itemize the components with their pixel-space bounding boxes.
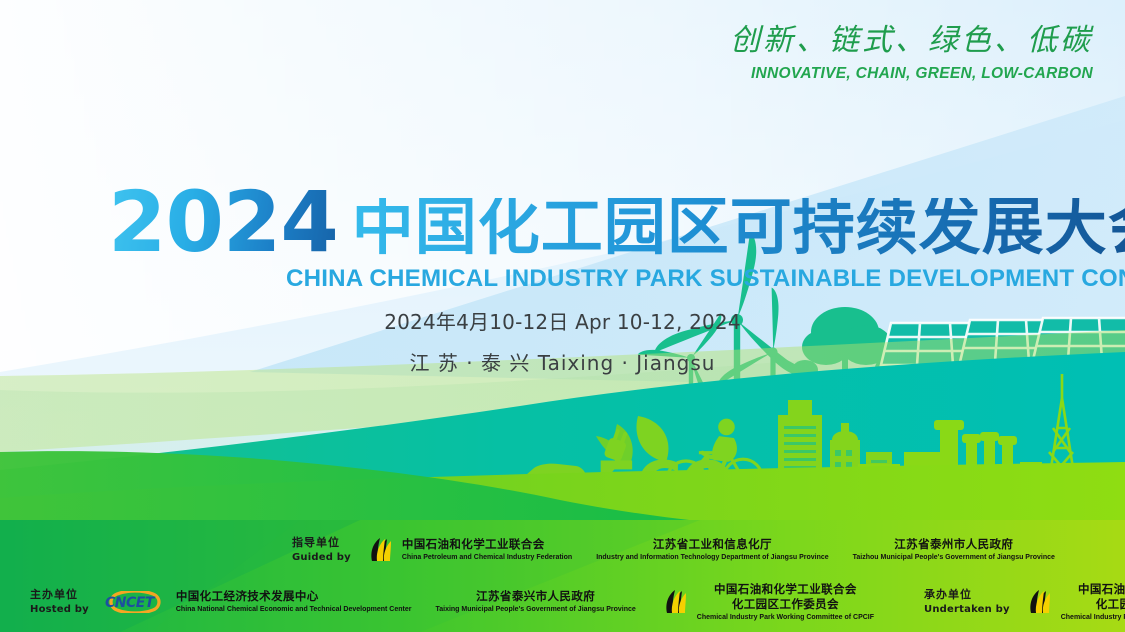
sponsor-label-guided-en: Guided by (292, 551, 351, 565)
sponsor-item: 江苏省泰兴市人民政府 Taixing Municipal People's Go… (435, 589, 635, 614)
sponsor-bar: 指导单位 Guided by 中国石油和化学工业联合会 China Petrol… (0, 520, 1125, 632)
sponsor-name-en: Industry and Information Technology Depa… (596, 553, 828, 562)
sponsor-item: 江苏省工业和信息化厅 Industry and Information Tech… (596, 537, 828, 562)
slogan-cn: 创新、链式、绿色、低碳 (730, 26, 1093, 56)
sponsor-name-cn-line2: 化工园区工作委员会 (1061, 597, 1125, 612)
title-english: CHINA CHEMICAL INDUSTRY PARK SUSTAINABLE… (286, 265, 1125, 293)
sponsor-name-cn: 江苏省泰兴市人民政府 (435, 589, 635, 604)
sponsor-label-guided-cn: 指导单位 (292, 536, 351, 551)
sponsor-label-undertaken: 承办单位 Undertaken by (924, 588, 1010, 616)
sponsor-label-guided: 指导单位 Guided by (292, 536, 351, 564)
sponsor-label-hosted-cn: 主办单位 (30, 588, 89, 603)
cpcif-logo (660, 587, 690, 617)
sponsor-item: CNCET 中国化工经济技术发展中心 China National Chemic… (103, 589, 412, 614)
sponsor-name-cn: 江苏省泰州市人民政府 (853, 537, 1055, 552)
cpcif-logo (1024, 587, 1054, 617)
event-location: 江 苏 · 泰 兴 Taixing · Jiangsu (0, 347, 1125, 376)
sponsor-name-cn-line1: 中国石油和化学工业联合会 (697, 582, 874, 597)
sponsor-item: 中国石油和化学工业联合会 化工园区工作委员会 Chemical Industry… (660, 582, 874, 622)
sponsor-item: 中国石油和化学工业联合会 China Petroleum and Chemica… (365, 535, 572, 565)
svg-text:CNCET: CNCET (105, 595, 156, 611)
sponsor-name-en: Taizhou Municipal People's Government of… (853, 553, 1055, 562)
sponsor-name-cn-line2: 化工园区工作委员会 (697, 597, 874, 612)
sponsor-name-cn: 江苏省工业和信息化厅 (596, 537, 828, 552)
page-title: 2024 中国化工园区可持续发展大会 CHINA CHEMICAL INDUST… (108, 188, 1125, 293)
sponsor-name-cn: 中国化工经济技术发展中心 (176, 589, 412, 604)
sponsor-row-guided: 指导单位 Guided by 中国石油和化学工业联合会 China Petrol… (292, 535, 1079, 565)
sponsor-name-en: China Petroleum and Chemical Industry Fe… (402, 553, 572, 562)
sponsor-name-en: Chemical Industry Park Working Committee… (697, 613, 874, 622)
sponsor-name-cn-line1: 中国石油和化学工业联合会 (1061, 582, 1125, 597)
sponsor-label-hosted: 主办单位 Hosted by (30, 588, 89, 616)
slogan: 创新、链式、绿色、低碳 INNOVATIVE, CHAIN, GREEN, LO… (730, 26, 1093, 82)
cncet-logo: CNCET (103, 591, 169, 613)
conference-banner: 创新、链式、绿色、低碳 INNOVATIVE, CHAIN, GREEN, LO… (0, 0, 1125, 632)
sponsor-name-en: China National Chemical Economic and Tec… (176, 605, 412, 614)
event-date: 2024年4月10-12日 Apr 10-12, 2024 (0, 306, 1125, 335)
sponsor-name-cn: 中国石油和化学工业联合会 (402, 537, 572, 552)
sponsor-label-undertaken-en: Undertaken by (924, 603, 1010, 617)
sponsor-row-hosted: 主办单位 Hosted by CNCET 中国化工经济技术发展中心 China … (30, 582, 1125, 622)
sponsor-label-undertaken-cn: 承办单位 (924, 588, 1010, 603)
title-year: 2024 (108, 188, 338, 257)
sponsor-item: 江苏省泰州市人民政府 Taizhou Municipal People's Go… (853, 537, 1055, 562)
slogan-en: INNOVATIVE, CHAIN, GREEN, LOW-CARBON (730, 66, 1093, 82)
event-meta: 2024年4月10-12日 Apr 10-12, 2024 江 苏 · 泰 兴 … (0, 306, 1125, 376)
cpcif-logo (365, 535, 395, 565)
sponsor-item: 中国石油和化学工业联合会 化工园区工作委员会 Chemical Industry… (1024, 582, 1125, 622)
sponsor-label-hosted-en: Hosted by (30, 603, 89, 617)
title-chinese: 中国化工园区可持续发展大会 (352, 198, 1125, 257)
sponsor-name-en: Chemical Industry Park Working Committee… (1061, 613, 1125, 622)
sponsor-name-en: Taixing Municipal People's Government of… (435, 605, 635, 614)
